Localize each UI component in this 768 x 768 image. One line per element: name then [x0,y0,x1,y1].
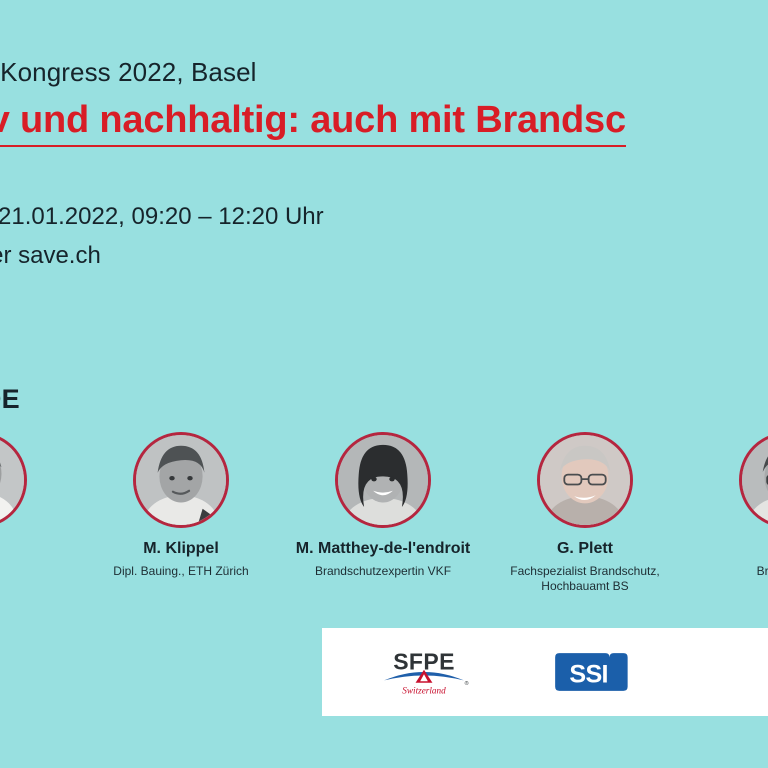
header-block: ERHEITS-Kongress 2022, Basel novativ und… [0,56,768,147]
speaker-card: M. Matthey-de-l'endroit Brandschutzexper… [282,432,484,579]
speaker-photo [0,432,27,528]
speaker-role: Dipl. Bauing., ETH Zürich [113,564,248,580]
speaker-role: Brandschut [757,564,768,580]
speaker-card: M. Klippel Dipl. Bauing., ETH Zürich [80,432,282,579]
event-headline: novativ und nachhaltig: auch mit Brandsc [0,98,626,148]
sponsor-logo-band: SFPE Switzerland ® SSI [322,628,768,716]
speaker-photo [537,432,633,528]
speaker-photo [133,432,229,528]
svg-text:SSI: SSI [569,660,607,688]
speakers-section-title: RIERENDE [0,384,20,415]
svg-text:®: ® [465,680,469,687]
speaker-role: Fachspezialist Brandschutz, Hochbauamt B… [490,564,680,595]
speaker-role: Brandschutzexpertin VKF [315,564,451,580]
event-datetime: l 7, Freitag 21.01.2022, 09:20 – 12:20 U… [0,198,768,237]
speaker-card: M. R Brandschut [686,432,768,579]
svg-text:Switzerland: Switzerland [402,685,446,695]
speaker-card: G. Plett Fachspezialist Brandschutz, Hoc… [484,432,686,595]
event-poster: ERHEITS-Kongress 2022, Basel novativ und… [0,0,768,768]
speaker-name: M. Matthey-de-l'endroit [296,539,470,559]
speaker-card: urg VKF [0,432,80,579]
speaker-photo [335,432,431,528]
event-meta-block: l 7, Freitag 21.01.2022, 09:20 – 12:20 U… [0,198,768,276]
sfpe-switzerland-logo: SFPE Switzerland ® [378,645,470,699]
speaker-name: M. Klippel [143,539,219,559]
speakers-list: urg VKF M. Klippel Dipl. Bauing., ETH Zü… [0,432,768,595]
speaker-name: G. Plett [557,539,613,559]
ssi-logo: SSI [548,649,632,695]
event-registration: eldung unter save.ch [0,237,768,276]
speaker-photo [739,432,768,528]
event-kicker: ERHEITS-Kongress 2022, Basel [0,56,768,89]
